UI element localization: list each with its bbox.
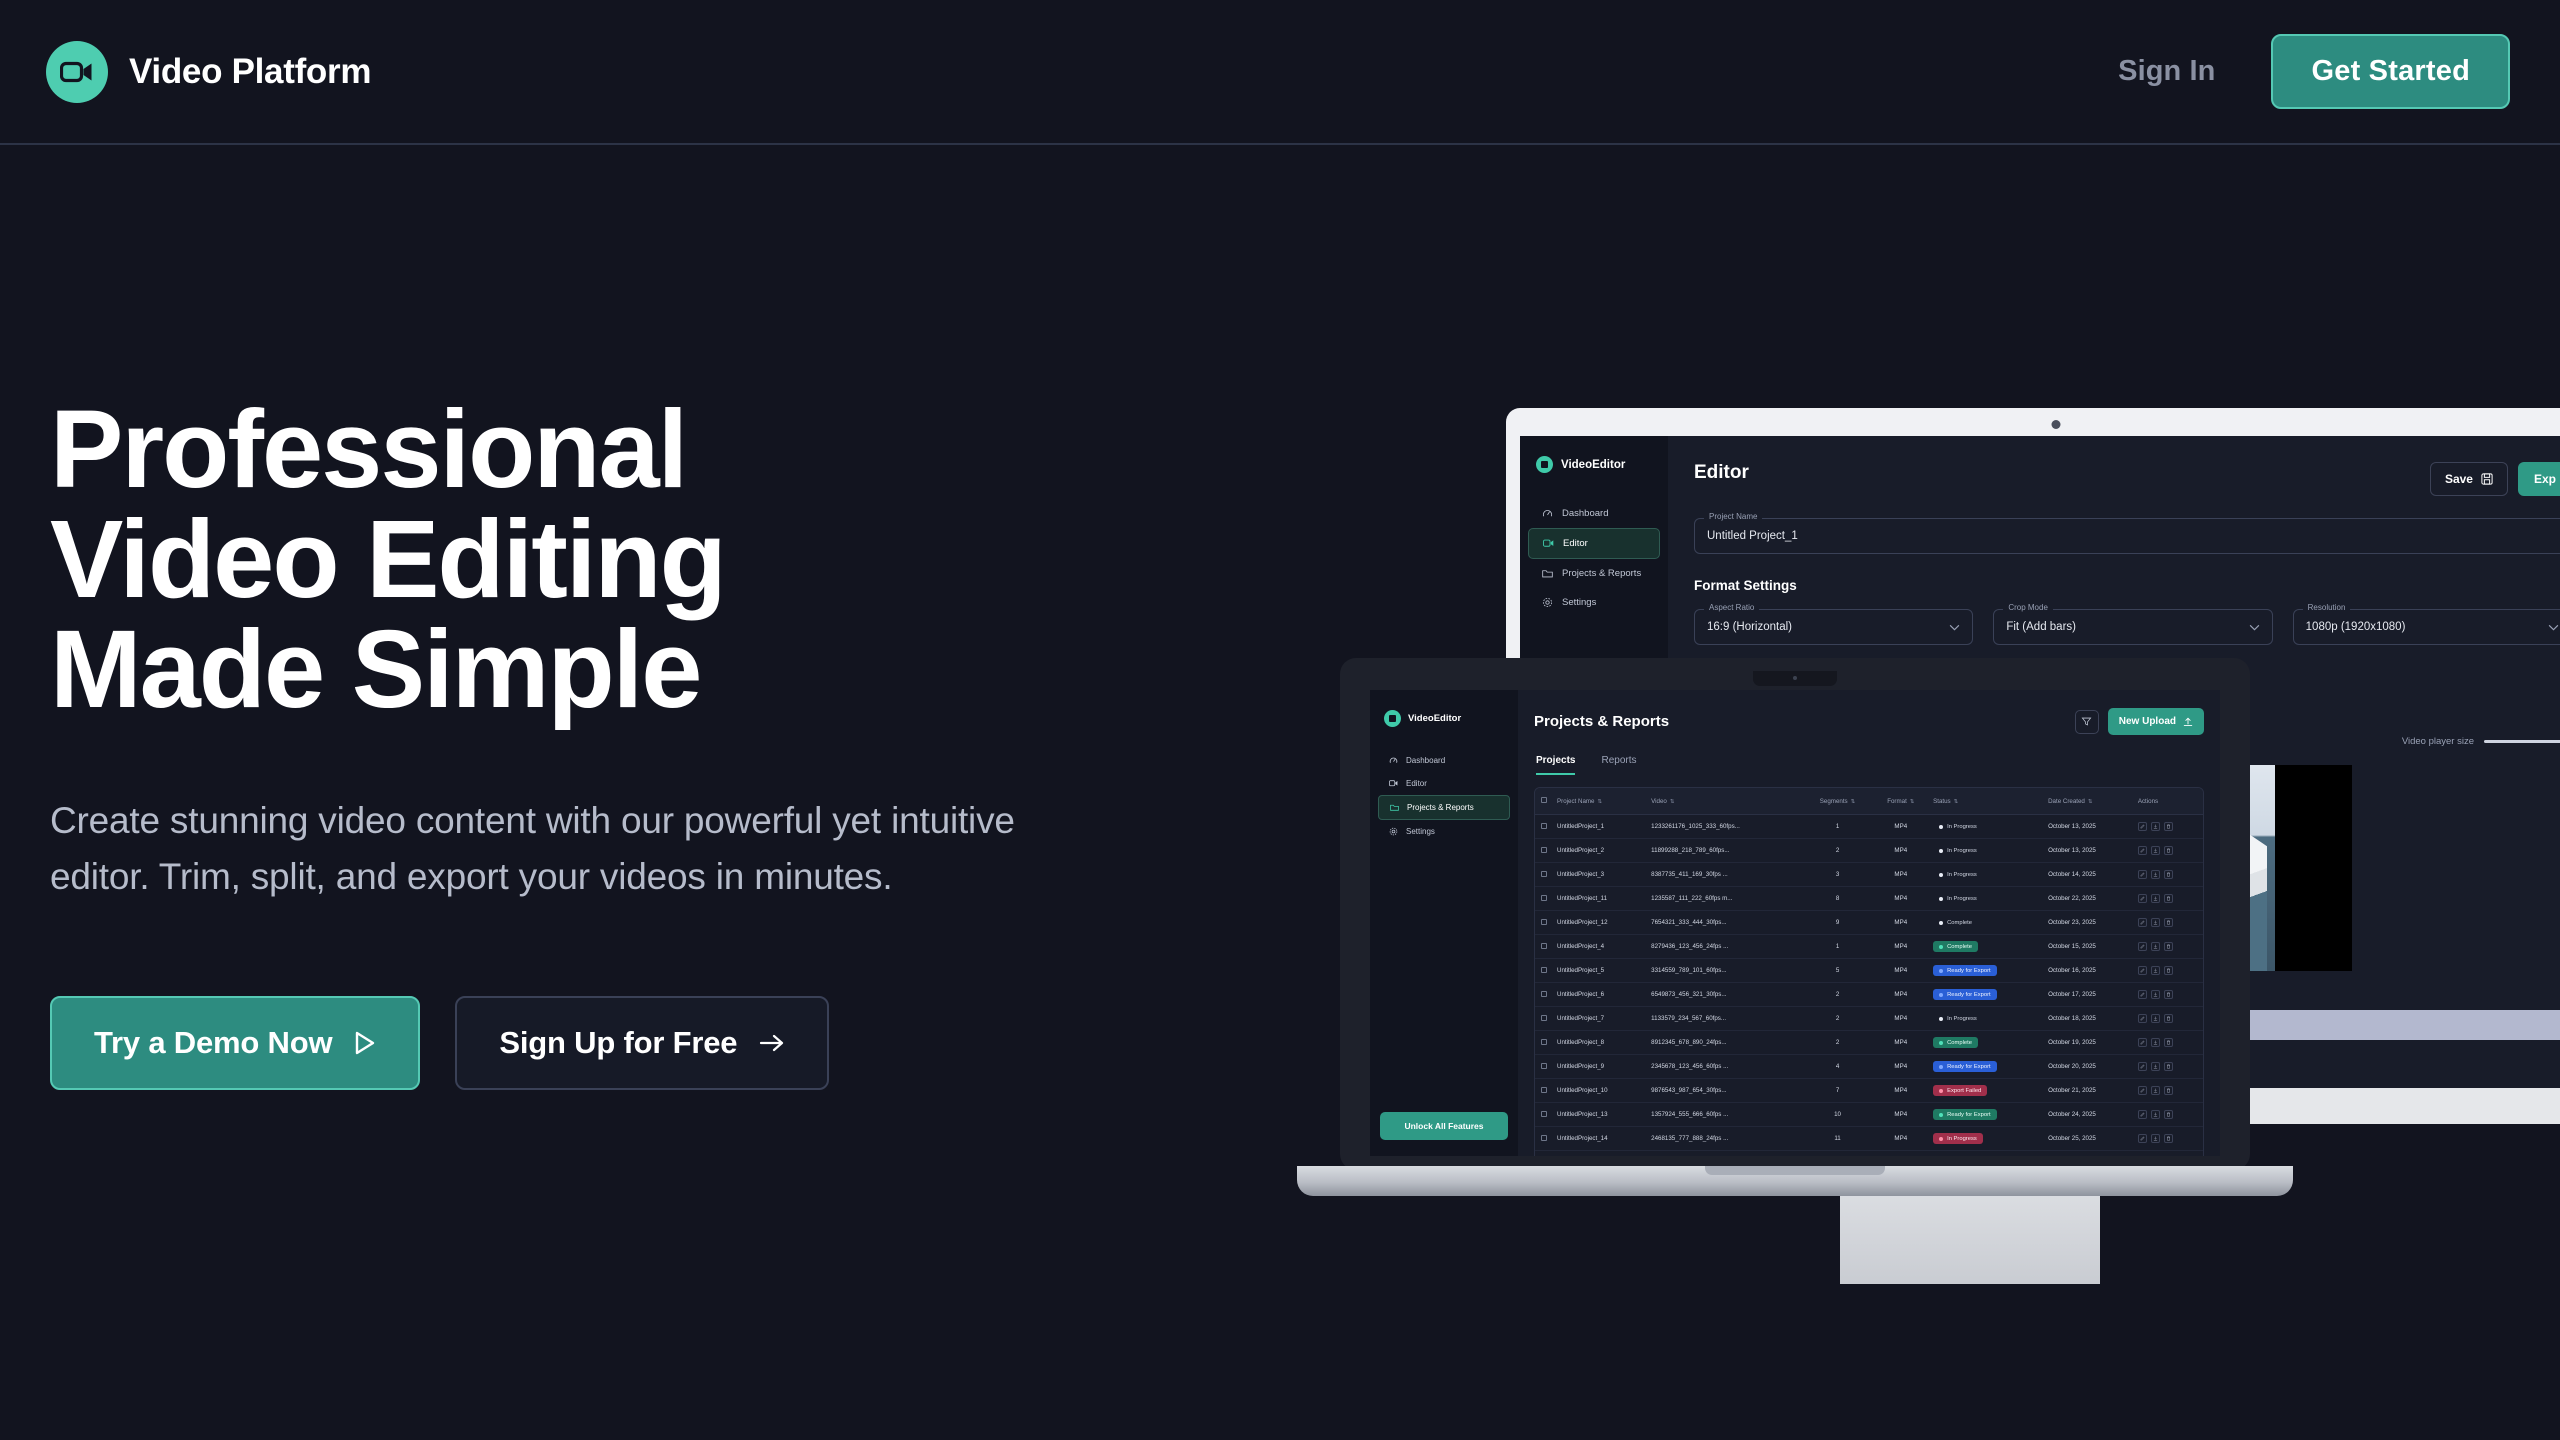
delete-icon[interactable]: [2164, 1110, 2173, 1119]
edit-icon[interactable]: [2138, 966, 2147, 975]
checkbox-icon[interactable]: [1541, 895, 1547, 901]
download-icon[interactable]: [2151, 942, 2160, 951]
tab-reports[interactable]: Reports: [1601, 755, 1636, 775]
sidebar-item-settings[interactable]: Settings: [1528, 588, 1660, 617]
status-badge: Complete: [1933, 941, 1978, 952]
row-checkbox[interactable]: [1535, 1151, 1553, 1157]
row-checkbox[interactable]: [1535, 887, 1553, 911]
row-checkbox[interactable]: [1535, 1055, 1553, 1079]
cell-actions: [2134, 1007, 2203, 1031]
table-row[interactable]: UntitledProject_142468135_777_888_24fps …: [1535, 1127, 2203, 1151]
cell-format: MP4: [1872, 1079, 1929, 1103]
hero-cta-row: Try a Demo Now Sign Up for Free: [50, 996, 1170, 1090]
video-camera-icon: [1543, 538, 1554, 549]
row-checkbox[interactable]: [1535, 983, 1553, 1007]
table-row[interactable]: UntitledProject_92345678_123_456_60fps .…: [1535, 1055, 2203, 1079]
download-icon[interactable]: [2151, 846, 2160, 855]
cell-project-name: UntitledProject_8: [1553, 1031, 1647, 1055]
edit-icon[interactable]: [2138, 846, 2147, 855]
delete-icon[interactable]: [2164, 1062, 2173, 1071]
aspect-ratio-select[interactable]: Aspect Ratio 16:9 (Horizontal): [1694, 609, 1973, 645]
table-row[interactable]: UntitledProject_53314559_789_101_60fps..…: [1535, 959, 2203, 983]
cell-format: MP4: [1872, 1031, 1929, 1055]
sidebar-item-label: Editor: [1563, 538, 1588, 549]
delete-icon[interactable]: [2164, 894, 2173, 903]
projects-table: Project Name⇅ Video⇅ Segments⇅ Format⇅ S…: [1534, 787, 2204, 1156]
sidebar-item-label: Dashboard: [1562, 508, 1608, 519]
table-row[interactable]: UntitledProject_159871234_999_000_60fps.…: [1535, 1151, 2203, 1157]
cell-project-name: UntitledProject_5: [1553, 959, 1647, 983]
sidebar-item-label: Projects & Reports: [1562, 568, 1641, 579]
checkbox-icon[interactable]: [1541, 919, 1547, 925]
cell-segments: 2: [1803, 1007, 1873, 1031]
sort-icon[interactable]: ⇅: [1670, 799, 1675, 805]
player-size-label: Video player size: [2402, 736, 2474, 747]
gauge-icon: [1389, 756, 1398, 765]
chevron-down-icon: [1949, 624, 1960, 631]
resolution-select[interactable]: Resolution 1080p (1920x1080): [2293, 609, 2560, 645]
download-icon[interactable]: [2151, 1086, 2160, 1095]
hero-section: Professional Video Editing Made Simple C…: [50, 395, 1170, 1090]
cell-video: 8387735_411_169_30fps ...: [1647, 863, 1802, 887]
checkbox-icon[interactable]: [1541, 1015, 1547, 1021]
delete-icon[interactable]: [2164, 966, 2173, 975]
editor-page-title: Editor: [1694, 462, 1749, 484]
table-row[interactable]: UntitledProject_131357924_555_666_60fps …: [1535, 1103, 2203, 1127]
edit-icon[interactable]: [2138, 822, 2147, 831]
filter-button[interactable]: [2075, 710, 2099, 734]
editor-brand: VideoEditor: [1520, 436, 1668, 473]
edit-icon[interactable]: [2138, 1110, 2147, 1119]
col-format[interactable]: Format⇅: [1872, 788, 1929, 815]
checkbox-icon[interactable]: [1541, 823, 1547, 829]
aspect-ratio-label: Aspect Ratio: [1704, 603, 1759, 612]
folder-icon: [1542, 568, 1553, 579]
checkbox-icon[interactable]: [1541, 1111, 1547, 1117]
cell-actions: [2134, 863, 2203, 887]
new-upload-label: New Upload: [2119, 716, 2176, 727]
save-button[interactable]: Save: [2430, 462, 2508, 496]
sort-icon[interactable]: ⇅: [2088, 799, 2093, 805]
download-icon[interactable]: [2151, 1038, 2160, 1047]
delete-icon[interactable]: [2164, 918, 2173, 927]
brand-logo-group[interactable]: Video Platform: [46, 41, 371, 103]
cell-project-name: UntitledProject_10: [1553, 1079, 1647, 1103]
cell-date-created: October 23, 2025: [2044, 911, 2134, 935]
sidebar-item-dashboard[interactable]: Dashboard: [1528, 499, 1660, 528]
product-mockups: VideoEditor Dashboard Editor: [1340, 380, 2560, 1230]
cell-actions: [2134, 1151, 2203, 1157]
edit-icon[interactable]: [2138, 1038, 2147, 1047]
cell-segments: 1: [1803, 1151, 1873, 1157]
cell-project-name: UntitledProject_4: [1553, 935, 1647, 959]
cell-video: 9871234_999_000_60fps...: [1647, 1151, 1802, 1157]
editor-nav: Dashboard Editor Projects & Reports: [1520, 499, 1668, 617]
download-icon[interactable]: [2151, 1062, 2160, 1071]
cell-format: MP4: [1872, 1055, 1929, 1079]
status-badge: Ready for Export: [1933, 1109, 1997, 1120]
cell-video: 1233261176_1025_333_60fps...: [1647, 815, 1802, 839]
cell-status: In Progress: [1929, 887, 2044, 911]
cell-date-created: October 15, 2025: [2044, 935, 2134, 959]
video-camera-icon: [1384, 710, 1401, 727]
status-badge: Ready for Export: [1933, 965, 1997, 976]
laptop-lid: VideoEditor Dashboard Editor: [1340, 658, 2250, 1170]
cell-segments: 7: [1803, 1079, 1873, 1103]
download-icon[interactable]: [2151, 870, 2160, 879]
col-video[interactable]: Video⇅: [1647, 788, 1802, 815]
header-actions: Sign In Get Started: [2118, 34, 2510, 109]
cell-video: 11899288_218_789_60fps...: [1647, 839, 1802, 863]
projects-brand-name: VideoEditor: [1408, 713, 1461, 724]
cell-status: Ready for Export: [1929, 959, 2044, 983]
page-title: Professional Video Editing Made Simple: [50, 395, 1170, 725]
cell-status: In Progress: [1929, 1007, 2044, 1031]
video-camera-icon: [1389, 779, 1398, 788]
project-name-field[interactable]: Project Name Untitled Project_1: [1694, 518, 2560, 554]
cell-segments: 8: [1803, 887, 1873, 911]
cell-segments: 4: [1803, 1055, 1873, 1079]
table-row[interactable]: UntitledProject_71133579_234_567_60fps..…: [1535, 1007, 2203, 1031]
edit-icon[interactable]: [2138, 1086, 2147, 1095]
cell-date-created: October 24, 2025: [2044, 1103, 2134, 1127]
download-icon[interactable]: [2151, 918, 2160, 927]
download-icon[interactable]: [2151, 990, 2160, 999]
video-camera-icon: [46, 41, 108, 103]
edit-icon[interactable]: [2138, 1062, 2147, 1071]
status-badge: In Progress: [1933, 845, 1983, 856]
cell-date-created: October 17, 2025: [2044, 983, 2134, 1007]
sidebar-item-settings[interactable]: Settings: [1378, 820, 1510, 843]
download-icon[interactable]: [2151, 966, 2160, 975]
cell-project-name: UntitledProject_9: [1553, 1055, 1647, 1079]
checkbox-icon[interactable]: [1541, 967, 1547, 973]
edit-icon[interactable]: [2138, 870, 2147, 879]
download-icon[interactable]: [2151, 1014, 2160, 1023]
projects-header-actions: New Upload: [2075, 708, 2204, 735]
status-badge: In Progress: [1933, 1013, 1983, 1024]
cell-status: Ready for Export: [1929, 1103, 2044, 1127]
sidebar-item-dashboard[interactable]: Dashboard: [1378, 749, 1510, 772]
cell-format: MP4: [1872, 1103, 1929, 1127]
cell-date-created: October 25, 2025: [2044, 1127, 2134, 1151]
player-size-control[interactable]: Video player size: [2402, 736, 2560, 747]
download-icon[interactable]: [2151, 822, 2160, 831]
delete-icon[interactable]: [2164, 1134, 2173, 1143]
cell-actions: [2134, 815, 2203, 839]
projects-header: Projects & Reports New Upload: [1534, 708, 2204, 735]
checkbox-icon[interactable]: [1541, 943, 1547, 949]
cell-segments: 11: [1803, 1127, 1873, 1151]
gear-icon: [1542, 597, 1553, 608]
export-button[interactable]: Exp: [2518, 462, 2560, 496]
edit-icon[interactable]: [2138, 990, 2147, 999]
cell-date-created: October 22, 2025: [2044, 887, 2134, 911]
player-size-slider[interactable]: [2484, 740, 2560, 743]
floppy-disk-icon: [2481, 473, 2493, 485]
cell-segments: 1: [1803, 815, 1873, 839]
cell-date-created: October 26, 2025: [2044, 1151, 2134, 1157]
new-upload-button[interactable]: New Upload: [2108, 708, 2204, 735]
cell-actions: [2134, 935, 2203, 959]
cell-segments: 5: [1803, 959, 1873, 983]
tab-projects[interactable]: Projects: [1536, 755, 1575, 775]
cell-format: MP4: [1872, 911, 1929, 935]
filter-icon: [2081, 716, 2092, 727]
cell-format: MP4: [1872, 815, 1929, 839]
checkbox-icon[interactable]: [1541, 1135, 1547, 1141]
download-icon[interactable]: [2151, 1110, 2160, 1119]
editor-top-actions: Save Exp: [2430, 462, 2560, 496]
status-badge: Ready for Export: [1933, 989, 1997, 1000]
table-row[interactable]: UntitledProject_109876543_987_654_30fps.…: [1535, 1079, 2203, 1103]
resolution-value: 1080p (1920x1080): [2306, 621, 2406, 633]
projects-sidebar: VideoEditor Dashboard Editor: [1370, 690, 1518, 1156]
row-checkbox[interactable]: [1535, 1007, 1553, 1031]
edit-icon[interactable]: [2138, 918, 2147, 927]
cell-status: Complete: [1929, 1151, 2044, 1157]
cell-date-created: October 20, 2025: [2044, 1055, 2134, 1079]
status-badge: In Progress: [1933, 821, 1983, 832]
cell-format: MP4: [1872, 959, 1929, 983]
format-settings-title: Format Settings: [1668, 554, 2560, 597]
chevron-down-icon: [2249, 624, 2260, 631]
cell-status: In Progress: [1929, 1127, 2044, 1151]
cell-date-created: October 18, 2025: [2044, 1007, 2134, 1031]
cell-format: MP4: [1872, 983, 1929, 1007]
projects-main: Projects & Reports New Upload: [1518, 690, 2220, 1156]
arrow-right-icon: [759, 1033, 785, 1053]
status-badge: Complete: [1933, 1037, 1978, 1048]
resolution-label: Resolution: [2303, 603, 2351, 612]
sidebar-item-editor[interactable]: Editor: [1528, 528, 1660, 559]
delete-icon[interactable]: [2164, 846, 2173, 855]
save-label: Save: [2445, 472, 2473, 486]
cell-segments: 3: [1803, 863, 1873, 887]
cell-status: In Progress: [1929, 839, 2044, 863]
cell-project-name: UntitledProject_7: [1553, 1007, 1647, 1031]
camera-dot-icon: [2052, 420, 2061, 429]
hero-title-line-3: Made Simple: [50, 615, 1170, 725]
crop-mode-value: Fit (Add bars): [2006, 621, 2076, 633]
aspect-ratio-value: 16:9 (Horizontal): [1707, 621, 1792, 633]
project-name-label: Project Name: [1704, 512, 1762, 521]
try-demo-label: Try a Demo Now: [94, 1025, 332, 1061]
cell-date-created: October 14, 2025: [2044, 863, 2134, 887]
sidebar-item-label: Projects & Reports: [1407, 803, 1474, 812]
cell-segments: 2: [1803, 983, 1873, 1007]
cell-project-name: UntitledProject_15: [1553, 1151, 1647, 1157]
row-checkbox[interactable]: [1535, 839, 1553, 863]
cell-date-created: October 13, 2025: [2044, 839, 2134, 863]
cell-status: Complete: [1929, 935, 2044, 959]
sign-in-link[interactable]: Sign In: [2118, 55, 2215, 88]
sidebar-item-label: Settings: [1406, 827, 1435, 836]
sidebar-item-label: Editor: [1406, 779, 1427, 788]
projects-tabs: Projects Reports: [1534, 755, 2204, 775]
play-triangle-icon: [354, 1031, 376, 1055]
delete-icon[interactable]: [2164, 822, 2173, 831]
cell-format: MP4: [1872, 935, 1929, 959]
row-checkbox[interactable]: [1535, 959, 1553, 983]
sort-icon[interactable]: ⇅: [1910, 799, 1915, 805]
editor-topbar: Editor Save Exp: [1668, 436, 2560, 496]
sidebar-item-label: Settings: [1562, 597, 1596, 608]
upload-icon: [2183, 717, 2193, 727]
cell-project-name: UntitledProject_3: [1553, 863, 1647, 887]
edit-icon[interactable]: [2138, 1014, 2147, 1023]
status-badge: In Progress: [1933, 1133, 1983, 1144]
row-checkbox[interactable]: [1535, 935, 1553, 959]
status-badge: Export Failed: [1933, 1085, 1987, 1096]
cell-video: 8912345_678_890_24fps...: [1647, 1031, 1802, 1055]
table-row[interactable]: UntitledProject_66549873_456_321_30fps..…: [1535, 983, 2203, 1007]
row-checkbox[interactable]: [1535, 1103, 1553, 1127]
cell-video: 9876543_987_654_30fps...: [1647, 1079, 1802, 1103]
cell-segments: 10: [1803, 1103, 1873, 1127]
sidebar-item-projects-reports[interactable]: Projects & Reports: [1528, 559, 1660, 588]
sort-icon[interactable]: ⇅: [1851, 799, 1856, 805]
try-demo-button[interactable]: Try a Demo Now: [50, 996, 420, 1090]
table-row[interactable]: UntitledProject_48279436_123_456_24fps .…: [1535, 935, 2203, 959]
col-actions: Actions: [2134, 788, 2203, 815]
table-row[interactable]: UntitledProject_38387735_411_169_30fps .…: [1535, 863, 2203, 887]
sidebar-item-projects-reports[interactable]: Projects & Reports: [1378, 795, 1510, 820]
status-badge: Complete: [1933, 917, 1978, 928]
checkbox-icon[interactable]: [1541, 1063, 1547, 1069]
cell-video: 7654321_333_444_30fps...: [1647, 911, 1802, 935]
cell-actions: [2134, 959, 2203, 983]
folder-icon: [1390, 803, 1399, 812]
cell-status: In Progress: [1929, 863, 2044, 887]
download-icon[interactable]: [2151, 1134, 2160, 1143]
table-row[interactable]: UntitledProject_211899288_218_789_60fps.…: [1535, 839, 2203, 863]
cell-date-created: October 16, 2025: [2044, 959, 2134, 983]
cell-actions: [2134, 839, 2203, 863]
col-date-created[interactable]: Date Created⇅: [2044, 788, 2134, 815]
table-row[interactable]: UntitledProject_127654321_333_444_30fps.…: [1535, 911, 2203, 935]
projects-page-title: Projects & Reports: [1534, 713, 1669, 730]
cell-format: MP4: [1872, 863, 1929, 887]
unlock-all-features-button[interactable]: Unlock All Features: [1380, 1112, 1508, 1140]
cell-format: MP4: [1872, 1151, 1929, 1157]
project-name-value: Untitled Project_1: [1707, 530, 1798, 542]
cell-format: MP4: [1872, 839, 1929, 863]
cell-video: 1235587_111_222_60fps m...: [1647, 887, 1802, 911]
sidebar-item-editor[interactable]: Editor: [1378, 772, 1510, 795]
checkbox-icon[interactable]: [1541, 871, 1547, 877]
row-checkbox[interactable]: [1535, 911, 1553, 935]
cell-segments: 1: [1803, 935, 1873, 959]
edit-icon[interactable]: [2138, 894, 2147, 903]
projects-nav: Dashboard Editor Projects & Reports: [1370, 749, 1518, 843]
cell-video: 3314559_789_101_60fps...: [1647, 959, 1802, 983]
brand-name: Video Platform: [129, 52, 371, 92]
cell-project-name: UntitledProject_6: [1553, 983, 1647, 1007]
video-camera-icon: [1536, 456, 1553, 473]
table-row[interactable]: UntitledProject_88912345_678_890_24fps..…: [1535, 1031, 2203, 1055]
select-all-header[interactable]: [1535, 788, 1553, 815]
format-settings-row-1: Aspect Ratio 16:9 (Horizontal) Crop Mode…: [1668, 597, 2560, 645]
delete-icon[interactable]: [2164, 1038, 2173, 1047]
row-checkbox[interactable]: [1535, 1079, 1553, 1103]
cell-video: 2345678_123_456_60fps ...: [1647, 1055, 1802, 1079]
cell-segments: 2: [1803, 839, 1873, 863]
cell-status: In Progress: [1929, 815, 2044, 839]
checkbox-icon[interactable]: [1541, 797, 1547, 803]
cell-video: 2468135_777_888_24fps ...: [1647, 1127, 1802, 1151]
table-row[interactable]: UntitledProject_111235587_111_222_60fps …: [1535, 887, 2203, 911]
edit-icon[interactable]: [2138, 1134, 2147, 1143]
checkbox-icon[interactable]: [1541, 847, 1547, 853]
sign-up-free-label: Sign Up for Free: [499, 1025, 737, 1061]
download-icon[interactable]: [2151, 894, 2160, 903]
col-status[interactable]: Status⇅: [1929, 788, 2044, 815]
gear-icon: [1389, 827, 1398, 836]
row-checkbox[interactable]: [1535, 815, 1553, 839]
edit-icon[interactable]: [2138, 942, 2147, 951]
cell-actions: [2134, 1127, 2203, 1151]
col-project-name[interactable]: Project Name⇅: [1553, 788, 1647, 815]
sign-up-free-button[interactable]: Sign Up for Free: [455, 996, 829, 1090]
row-checkbox[interactable]: [1535, 1031, 1553, 1055]
cell-video: 1357924_555_666_60fps ...: [1647, 1103, 1802, 1127]
cell-project-name: UntitledProject_11: [1553, 887, 1647, 911]
table-row[interactable]: UntitledProject_11233261176_1025_333_60f…: [1535, 815, 2203, 839]
sort-icon[interactable]: ⇅: [1597, 799, 1602, 805]
hero-subtitle: Create stunning video content with our p…: [50, 793, 1110, 904]
sort-icon[interactable]: ⇅: [1954, 799, 1959, 805]
cell-project-name: UntitledProject_2: [1553, 839, 1647, 863]
checkbox-icon[interactable]: [1541, 1039, 1547, 1045]
delete-icon[interactable]: [2164, 1014, 2173, 1023]
editor-brand-name: VideoEditor: [1561, 459, 1625, 471]
cell-date-created: October 21, 2025: [2044, 1079, 2134, 1103]
crop-mode-select[interactable]: Crop Mode Fit (Add bars): [1993, 609, 2272, 645]
chevron-down-icon: [2548, 624, 2559, 631]
laptop-base: [1297, 1166, 2293, 1196]
delete-icon[interactable]: [2164, 990, 2173, 999]
checkbox-icon[interactable]: [1541, 1087, 1547, 1093]
landing-page: Video Platform Sign In Get Started Profe…: [0, 0, 2560, 1440]
projects-screen: VideoEditor Dashboard Editor: [1370, 690, 2220, 1156]
delete-icon[interactable]: [2164, 870, 2173, 879]
row-checkbox[interactable]: [1535, 863, 1553, 887]
hero-title-line-2: Video Editing: [50, 505, 1170, 615]
laptop-trackpad-notch: [1705, 1166, 1885, 1175]
cell-status: Complete: [1929, 1031, 2044, 1055]
cell-status: Export Failed: [1929, 1079, 2044, 1103]
cell-actions: [2134, 983, 2203, 1007]
delete-icon[interactable]: [2164, 942, 2173, 951]
get-started-button[interactable]: Get Started: [2271, 34, 2510, 109]
cell-actions: [2134, 1031, 2203, 1055]
col-segments[interactable]: Segments⇅: [1803, 788, 1873, 815]
cell-date-created: October 13, 2025: [2044, 815, 2134, 839]
cell-format: MP4: [1872, 887, 1929, 911]
cell-format: MP4: [1872, 1007, 1929, 1031]
checkbox-icon[interactable]: [1541, 991, 1547, 997]
laptop-device: VideoEditor Dashboard Editor: [1340, 658, 2280, 1218]
cell-project-name: UntitledProject_12: [1553, 911, 1647, 935]
delete-icon[interactable]: [2164, 1086, 2173, 1095]
cell-status: Ready for Export: [1929, 1055, 2044, 1079]
row-checkbox[interactable]: [1535, 1127, 1553, 1151]
cell-project-name: UntitledProject_14: [1553, 1127, 1647, 1151]
cell-video: 1133579_234_567_60fps...: [1647, 1007, 1802, 1031]
cell-actions: [2134, 887, 2203, 911]
projects-brand: VideoEditor: [1370, 690, 1518, 727]
